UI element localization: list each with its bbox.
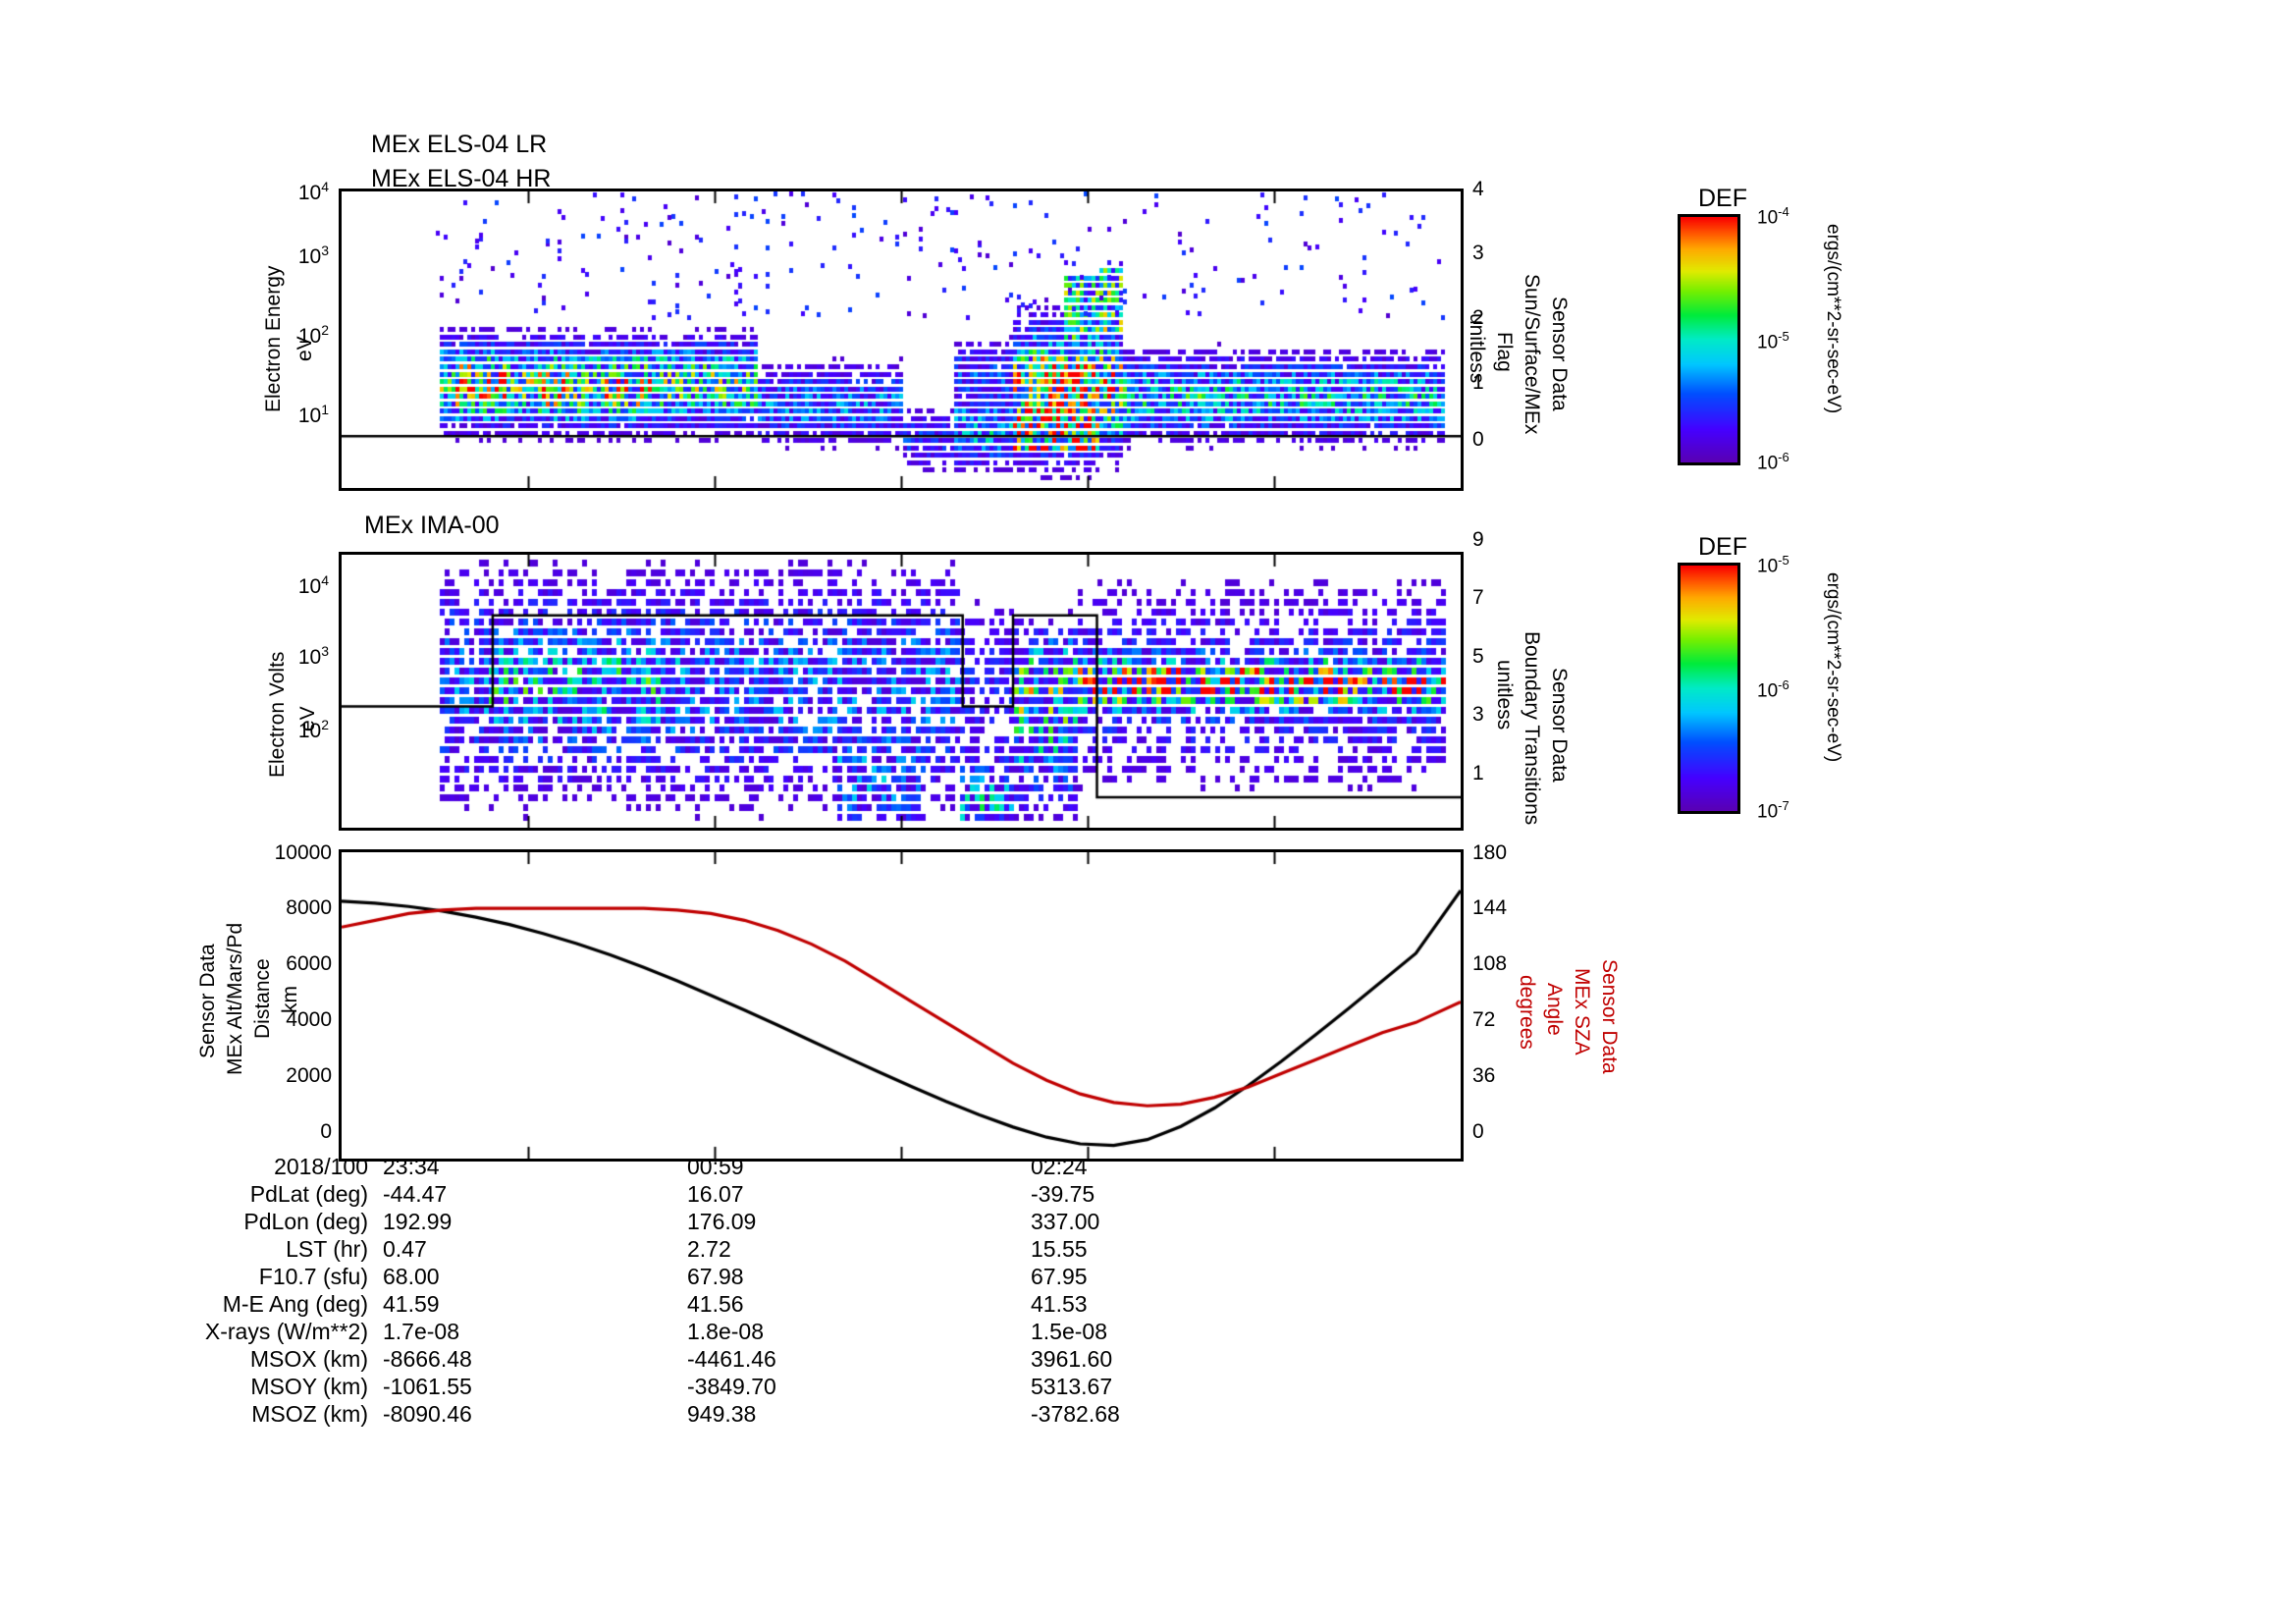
ephemeris-cell: 0.47	[383, 1236, 427, 1263]
ima-left-axis-name: Electron Volts	[266, 651, 289, 777]
sza-rtick-108: 108	[1472, 952, 1551, 976]
ephemeris-row-label: PdLon (deg)	[177, 1209, 368, 1235]
ephemeris-cell: 00:59	[687, 1154, 744, 1180]
colorbar-ima-tick-mid: 10-6	[1757, 677, 1789, 702]
ephemeris-cell: 3961.60	[1031, 1346, 1112, 1373]
ephemeris-row-label: M-E Ang (deg)	[177, 1291, 368, 1318]
colorbar-els-tick-top: 10-4	[1757, 204, 1789, 229]
panel-title-ima: MEx IMA-00	[364, 512, 500, 540]
ephemeris-cell: 2.72	[687, 1236, 731, 1263]
els-right-axis-line2: Sun/Surface/MEx	[1521, 274, 1543, 434]
colorbar-els-tick-bottom: 10-6	[1757, 450, 1789, 474]
ima-ytick-4: 104	[278, 572, 329, 599]
colorbar-ima-tick-bottom: 10-7	[1757, 798, 1789, 823]
colorbar-els-tick-mid: 10-5	[1757, 329, 1789, 353]
ephemeris-cell: -3849.70	[687, 1374, 776, 1400]
sza-rtick-180: 180	[1472, 841, 1551, 865]
ephemeris-cell: 02:24	[1031, 1154, 1088, 1180]
els-ytick-4: 104	[278, 179, 329, 205]
ephemeris-row-label: X-rays (W/m**2)	[177, 1319, 368, 1345]
alt-ytick-8000: 8000	[224, 896, 332, 920]
ephemeris-cell: 41.59	[383, 1291, 440, 1318]
els-right-axis-line1: Sensor Data	[1548, 297, 1571, 411]
ephemeris-cell: 192.99	[383, 1209, 452, 1235]
alt-left-axis-label-1: Sensor Data	[197, 903, 219, 1100]
ima-rtick-1: 1	[1472, 762, 1512, 785]
ephemeris-row-label: MSOX (km)	[177, 1346, 368, 1373]
sza-right-axis-label-3: Angle	[1543, 960, 1565, 1058]
ephemeris-cell: -8666.48	[383, 1346, 472, 1373]
ephemeris-cell: 67.98	[687, 1264, 744, 1290]
ephemeris-row-label: LST (hr)	[177, 1236, 368, 1263]
els-right-axis-label-1: Sensor Data	[1548, 260, 1570, 447]
alt-ytick-10000: 10000	[224, 841, 332, 865]
ima-ytick-3: 103	[278, 643, 329, 670]
alt-left-axis-line2: MEx Alt/Mars/Pd	[224, 923, 246, 1075]
alt-ytick-0: 0	[224, 1120, 332, 1144]
sza-right-axis-line2: MEx SZA	[1571, 968, 1593, 1055]
ephemeris-cell: -3782.68	[1031, 1401, 1120, 1428]
ima-right-axis-label-3: unitless	[1493, 648, 1515, 741]
els-right-axis-label-4: unitless	[1466, 301, 1487, 395]
ima-right-axis-label-2: Boundary Transitions	[1521, 631, 1542, 808]
ephemeris-row-label: MSOY (km)	[177, 1374, 368, 1400]
ephemeris-cell: -39.75	[1031, 1181, 1095, 1208]
altitude-sza-plot[interactable]	[339, 849, 1464, 1162]
els-rtick-4: 4	[1472, 178, 1512, 201]
sza-rtick-36: 36	[1472, 1064, 1551, 1088]
sza-rtick-72: 72	[1472, 1008, 1551, 1032]
ephemeris-cell: 16.07	[687, 1181, 744, 1208]
ima-right-axis-label-1: Sensor Data	[1548, 631, 1570, 818]
ephemeris-row-label: 2018/100	[177, 1154, 368, 1180]
colorbar-els-units: ergs/(cm**2-sr-sec-eV)	[1823, 224, 1842, 489]
ephemeris-cell: 41.56	[687, 1291, 744, 1318]
ephemeris-row-label: MSOZ (km)	[177, 1401, 368, 1428]
ephemeris-cell: 949.38	[687, 1401, 756, 1428]
ephemeris-cell: -1061.55	[383, 1374, 472, 1400]
ephemeris-row-label: PdLat (deg)	[177, 1181, 368, 1208]
sza-right-axis-label-1: Sensor Data	[1598, 923, 1620, 1109]
sza-right-axis-line1: Sensor Data	[1598, 959, 1621, 1074]
els-ytick-1: 101	[278, 402, 329, 428]
ephemeris-cell: 1.7e-08	[383, 1319, 459, 1345]
ima-ytick-2: 102	[278, 717, 329, 743]
ephemeris-cell: 5313.67	[1031, 1374, 1112, 1400]
els-right-axis-label-3: Flag	[1493, 312, 1515, 391]
ima-spectrogram-plot[interactable]	[339, 552, 1464, 831]
ephemeris-cell: 337.00	[1031, 1209, 1099, 1235]
ephemeris-cell: 67.95	[1031, 1264, 1088, 1290]
ephemeris-cell: 15.55	[1031, 1236, 1088, 1263]
ima-right-axis-line2: Boundary Transitions	[1521, 631, 1543, 825]
ephemeris-cell: 1.5e-08	[1031, 1319, 1107, 1345]
ephemeris-cell: 68.00	[383, 1264, 440, 1290]
ephemeris-cell: -44.47	[383, 1181, 447, 1208]
ephemeris-cell: 41.53	[1031, 1291, 1088, 1318]
panel-title-els-lr: MEx ELS-04 LR	[371, 131, 547, 159]
sza-rtick-144: 144	[1472, 896, 1551, 920]
els-spectrogram-plot[interactable]	[339, 189, 1464, 491]
alt-ytick-4000: 4000	[224, 1008, 332, 1032]
alt-ytick-6000: 6000	[224, 952, 332, 976]
ephemeris-cell: 23:34	[383, 1154, 440, 1180]
alt-ytick-2000: 2000	[224, 1064, 332, 1088]
els-rtick-3: 3	[1472, 242, 1512, 265]
els-right-axis-line3: Flag	[1493, 332, 1516, 372]
ephemeris-row-label: F10.7 (sfu)	[177, 1264, 368, 1290]
ephemeris-cell: 1.8e-08	[687, 1319, 764, 1345]
sza-right-axis-label-2: MEx SZA	[1571, 943, 1592, 1080]
colorbar-ima-tick-top: 10-5	[1757, 553, 1789, 577]
els-ytick-3: 103	[278, 243, 329, 269]
ima-rtick-7: 7	[1472, 586, 1512, 610]
sza-rtick-0: 0	[1472, 1120, 1551, 1144]
ima-right-axis-line3: unitless	[1493, 660, 1516, 730]
ima-right-axis-line1: Sensor Data	[1548, 668, 1571, 783]
alt-left-axis-line1: Sensor Data	[196, 945, 219, 1059]
colorbar-els	[1678, 214, 1740, 465]
els-right-axis-label-2: Sun/Surface/MEx	[1521, 253, 1542, 455]
ima-rtick-9: 9	[1472, 528, 1512, 552]
els-right-axis-line4: unitless	[1466, 313, 1488, 383]
colorbar-ima-units: ergs/(cm**2-sr-sec-eV)	[1823, 572, 1842, 838]
sza-right-axis-label-4: degrees	[1516, 950, 1537, 1073]
colorbar-ima	[1678, 563, 1740, 814]
ephemeris-cell: 176.09	[687, 1209, 756, 1235]
sza-right-axis-line3: Angle	[1543, 983, 1566, 1036]
els-ytick-2: 102	[278, 322, 329, 349]
ephemeris-cell: -8090.46	[383, 1401, 472, 1428]
sza-right-axis-line4: degrees	[1516, 975, 1538, 1050]
ephemeris-cell: -4461.46	[687, 1346, 776, 1373]
els-rtick-0: 0	[1472, 428, 1512, 452]
